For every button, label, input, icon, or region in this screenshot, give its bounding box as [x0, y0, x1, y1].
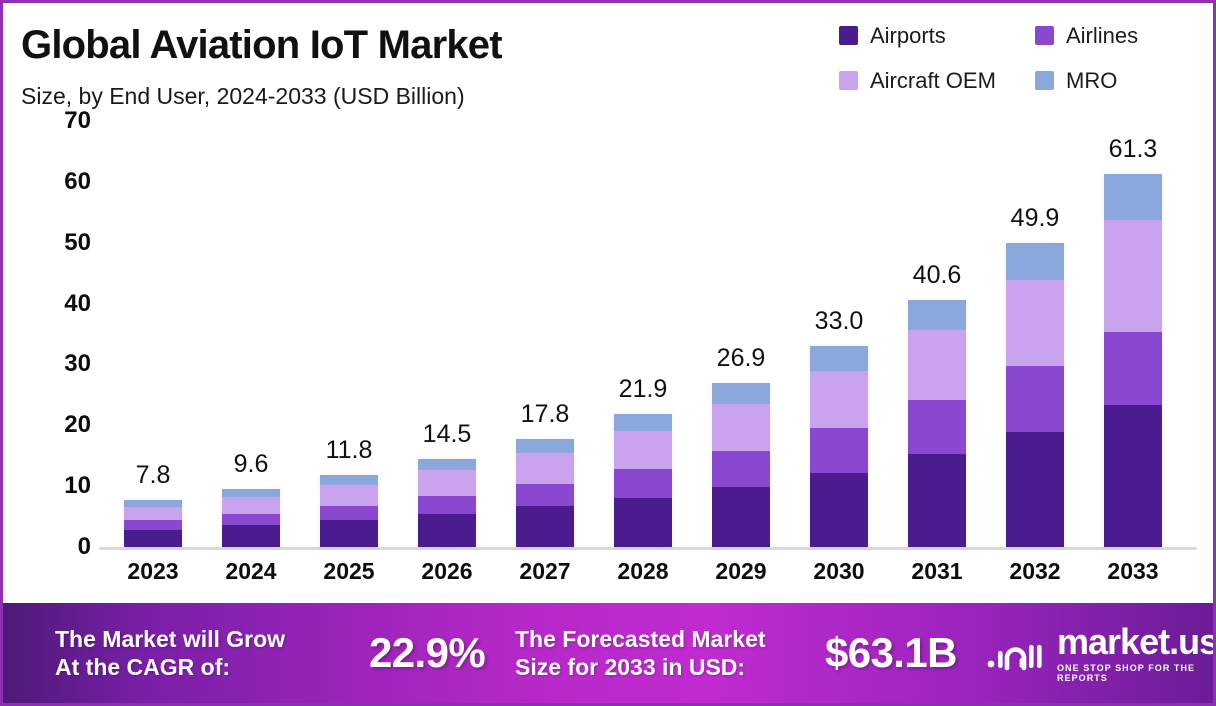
x-axis-label-2029: 2029	[712, 558, 770, 585]
bar-segment-aircraft-oem[interactable]	[1006, 280, 1064, 366]
bar-group-2026[interactable]: 14.5	[418, 459, 476, 547]
bar-stack[interactable]	[222, 489, 280, 547]
legend-label: Airlines	[1066, 23, 1138, 49]
bar-segment-aircraft-oem[interactable]	[810, 371, 868, 428]
bar-segment-aircraft-oem[interactable]	[320, 485, 378, 506]
y-axis-tick-70: 70	[64, 107, 91, 135]
bar-segment-airlines[interactable]	[712, 451, 770, 487]
bar-segment-airports[interactable]	[516, 506, 574, 547]
page-title: Global Aviation IoT Market	[21, 23, 502, 68]
forecast-size-label-line2: Size for 2033 in USD:	[515, 654, 745, 680]
bar-series-container: 7.89.611.814.517.821.926.933.040.649.961…	[99, 121, 1199, 547]
bar-segment-mro[interactable]	[124, 500, 182, 507]
bar-segment-airlines[interactable]	[1006, 366, 1064, 432]
market-us-logo-text: market.us ONE STOP SHOP FOR THE REPORTS	[1057, 624, 1216, 683]
legend-item-airports[interactable]: Airports	[839, 23, 1035, 49]
y-axis-tick-20: 20	[64, 411, 91, 439]
bar-segment-aircraft-oem[interactable]	[1104, 220, 1162, 331]
cagr-value: 22.9%	[369, 629, 485, 677]
bar-total-label: 21.9	[619, 375, 668, 404]
cagr-label-line2: At the CAGR of:	[55, 654, 230, 680]
bar-stack[interactable]	[418, 459, 476, 547]
bar-group-2032[interactable]: 49.9	[1006, 243, 1064, 547]
bar-segment-aircraft-oem[interactable]	[516, 453, 574, 485]
chart-plot-area: 010203040506070 7.89.611.814.517.821.926…	[3, 121, 1216, 608]
bar-segment-aircraft-oem[interactable]	[124, 507, 182, 520]
bar-segment-airports[interactable]	[614, 498, 672, 547]
legend-item-mro[interactable]: MRO	[1035, 68, 1209, 94]
legend-item-aircraft-oem[interactable]: Aircraft OEM	[839, 68, 1035, 94]
bar-stack[interactable]	[516, 439, 574, 547]
bar-stack[interactable]	[712, 383, 770, 547]
legend-item-airlines[interactable]: Airlines	[1035, 23, 1209, 49]
x-axis-label-2026: 2026	[418, 558, 476, 585]
y-axis-tick-0: 0	[78, 533, 91, 561]
bar-segment-airlines[interactable]	[320, 506, 378, 520]
bar-segment-mro[interactable]	[320, 475, 378, 485]
x-axis-label-2033: 2033	[1104, 558, 1162, 585]
bar-segment-mro[interactable]	[712, 383, 770, 404]
y-axis: 010203040506070	[33, 121, 91, 561]
bar-segment-airlines[interactable]	[516, 484, 574, 505]
x-axis-label-2030: 2030	[810, 558, 868, 585]
bar-group-2029[interactable]: 26.9	[712, 383, 770, 547]
bar-total-label: 11.8	[326, 436, 373, 465]
x-axis-label-2024: 2024	[222, 558, 280, 585]
bar-segment-airports[interactable]	[1006, 432, 1064, 547]
bar-total-label: 14.5	[423, 420, 472, 449]
bar-segment-airports[interactable]	[810, 473, 868, 547]
bar-total-label: 61.3	[1109, 135, 1158, 164]
bar-group-2033[interactable]: 61.3	[1104, 174, 1162, 547]
bar-segment-airlines[interactable]	[1104, 332, 1162, 405]
bar-stack[interactable]	[614, 414, 672, 547]
bar-segment-airlines[interactable]	[222, 514, 280, 526]
bar-total-label: 40.6	[913, 261, 962, 290]
cagr-label-line1: The Market will Grow	[55, 626, 285, 652]
bar-segment-airports[interactable]	[418, 514, 476, 547]
legend-swatch-icon	[839, 26, 858, 45]
bar-total-label: 7.8	[136, 461, 171, 490]
chart-legend: AirportsAirlinesAircraft OEMMRO	[839, 13, 1209, 103]
bar-total-label: 33.0	[815, 307, 864, 336]
bar-segment-airports[interactable]	[222, 525, 280, 547]
bar-total-label: 9.6	[234, 450, 269, 479]
legend-label: Airports	[870, 23, 946, 49]
bar-segment-mro[interactable]	[810, 346, 868, 371]
bar-group-2023[interactable]: 7.8	[124, 500, 182, 547]
forecast-size-label: The Forecasted Market Size for 2033 in U…	[515, 625, 766, 681]
bar-segment-airlines[interactable]	[418, 496, 476, 514]
x-axis-baseline	[99, 547, 1197, 550]
bar-segment-mro[interactable]	[614, 414, 672, 431]
bar-stack[interactable]	[810, 346, 868, 547]
y-axis-tick-10: 10	[64, 472, 91, 500]
x-axis-label-2023: 2023	[124, 558, 182, 585]
bar-stack[interactable]	[908, 300, 966, 547]
bar-group-2025[interactable]: 11.8	[320, 475, 378, 547]
bar-stack[interactable]	[124, 500, 182, 547]
bar-segment-airports[interactable]	[124, 530, 182, 547]
bar-stack[interactable]	[320, 475, 378, 547]
legend-label: Aircraft OEM	[870, 68, 996, 94]
x-axis-label-2025: 2025	[320, 558, 378, 585]
bar-segment-airlines[interactable]	[124, 520, 182, 530]
legend-swatch-icon	[839, 71, 858, 90]
y-axis-tick-30: 30	[64, 350, 91, 378]
market-us-logo-icon	[985, 631, 1047, 675]
cagr-label: The Market will Grow At the CAGR of:	[55, 625, 285, 681]
bar-segment-airports[interactable]	[320, 520, 378, 547]
bar-stack[interactable]	[1104, 174, 1162, 547]
bar-segment-mro[interactable]	[908, 300, 966, 330]
logo-name: market.us	[1057, 624, 1216, 660]
bar-total-label: 49.9	[1011, 204, 1060, 233]
bar-group-2030[interactable]: 33.0	[810, 346, 868, 547]
bar-segment-airlines[interactable]	[614, 469, 672, 498]
x-axis-labels: 2023202420252026202720282029203020312032…	[99, 558, 1199, 598]
bar-segment-airlines[interactable]	[908, 400, 966, 454]
bar-group-2024[interactable]: 9.6	[222, 489, 280, 547]
bar-segment-aircraft-oem[interactable]	[712, 404, 770, 451]
bar-group-2028[interactable]: 21.9	[614, 414, 672, 547]
y-axis-tick-60: 60	[64, 168, 91, 196]
bar-total-label: 26.9	[717, 344, 766, 373]
bar-segment-aircraft-oem[interactable]	[614, 431, 672, 469]
y-axis-tick-40: 40	[64, 290, 91, 318]
bar-segment-mro[interactable]	[222, 489, 280, 498]
bar-total-label: 17.8	[521, 400, 570, 429]
bar-segment-mro[interactable]	[1104, 174, 1162, 220]
legend-label: MRO	[1066, 68, 1117, 94]
bar-group-2031[interactable]: 40.6	[908, 300, 966, 547]
x-axis-label-2028: 2028	[614, 558, 672, 585]
logo-tagline: ONE STOP SHOP FOR THE REPORTS	[1057, 663, 1216, 683]
y-axis-tick-50: 50	[64, 229, 91, 257]
bar-segment-aircraft-oem[interactable]	[418, 470, 476, 496]
bar-stack[interactable]	[1006, 243, 1064, 547]
x-axis-label-2032: 2032	[1006, 558, 1064, 585]
x-axis-label-2027: 2027	[516, 558, 574, 585]
bar-segment-airports[interactable]	[908, 454, 966, 547]
bar-segment-aircraft-oem[interactable]	[908, 330, 966, 399]
market-us-logo[interactable]: market.us ONE STOP SHOP FOR THE REPORTS	[985, 624, 1216, 683]
infographic-root: Global Aviation IoT Market Size, by End …	[0, 0, 1216, 706]
page-subtitle: Size, by End User, 2024-2033 (USD Billio…	[21, 83, 465, 110]
x-axis-label-2031: 2031	[908, 558, 966, 585]
forecast-size-value: $63.1B	[825, 629, 957, 677]
bar-segment-mro[interactable]	[516, 439, 574, 453]
bar-segment-airlines[interactable]	[810, 428, 868, 473]
bar-segment-airports[interactable]	[1104, 405, 1162, 547]
footer-banner: The Market will Grow At the CAGR of: 22.…	[3, 603, 1216, 703]
bar-segment-mro[interactable]	[1006, 243, 1064, 280]
legend-swatch-icon	[1035, 71, 1054, 90]
forecast-size-label-line1: The Forecasted Market	[515, 626, 766, 652]
bar-segment-mro[interactable]	[418, 459, 476, 471]
legend-swatch-icon	[1035, 26, 1054, 45]
bar-group-2027[interactable]: 17.8	[516, 439, 574, 547]
bar-segment-airports[interactable]	[712, 487, 770, 547]
bar-segment-aircraft-oem[interactable]	[222, 497, 280, 513]
